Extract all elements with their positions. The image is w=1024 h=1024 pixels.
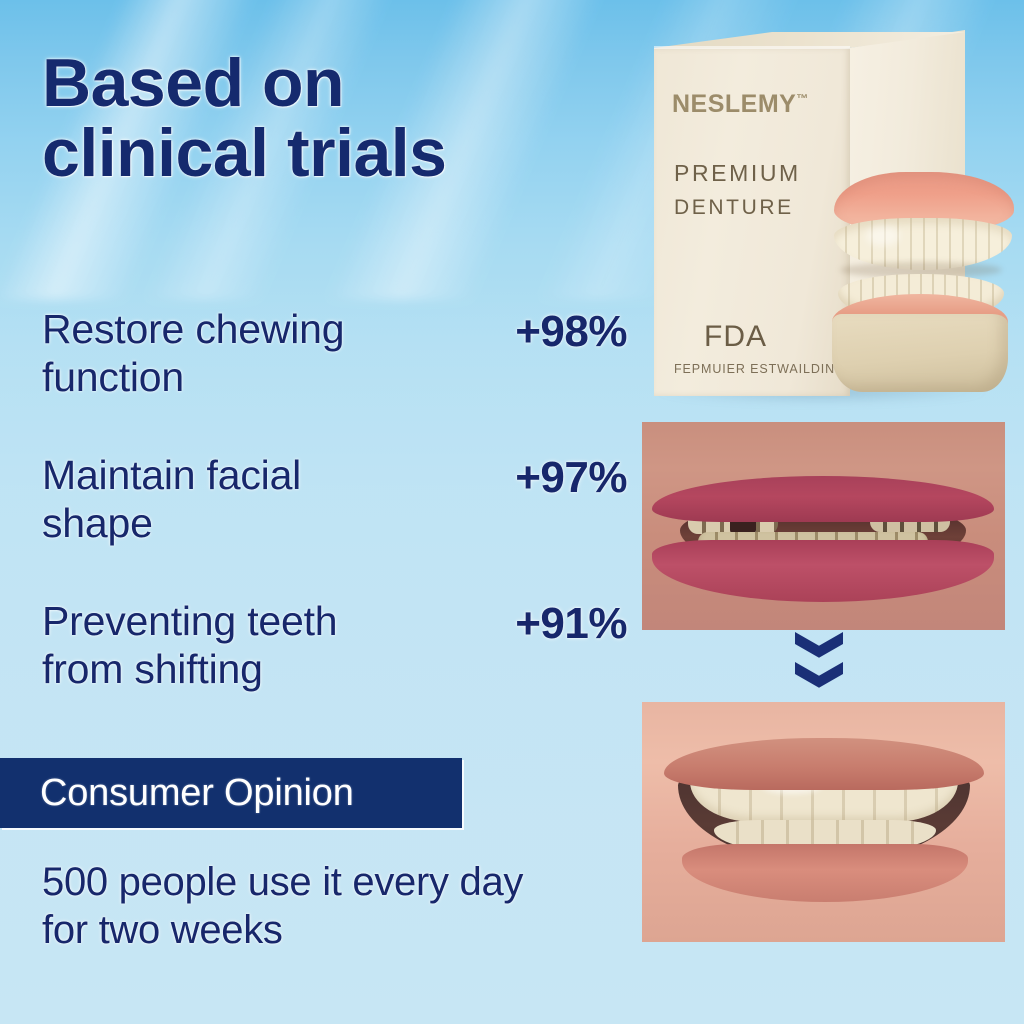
usage-footnote: 500 people use it every day for two week…	[42, 858, 602, 954]
benefit-row: Preventing teeth from shifting +91%	[42, 597, 627, 743]
brand-name: NESLEMY™	[672, 90, 842, 119]
benefit-label: Restore chewing function	[42, 305, 344, 402]
benefit-percentage: +91%	[459, 597, 627, 650]
before-photo	[642, 422, 1005, 630]
chevron-down-icon	[795, 632, 843, 662]
benefit-percentage: +98%	[459, 305, 627, 358]
page-title: Based on clinical trials	[42, 48, 642, 188]
product-photo: NESLEMY™ PREMIUM DENTURE FDA FEPMUIER ES…	[636, 26, 1016, 401]
benefit-row: Maintain facial shape +97%	[42, 451, 627, 597]
consumer-opinion-label: Consumer Opinion	[0, 772, 354, 815]
certification-subtext: FEPMUIER ESTWAILDING	[674, 362, 846, 376]
trademark-symbol: ™	[796, 92, 809, 106]
transition-arrows	[795, 632, 843, 704]
denture-base	[832, 314, 1008, 392]
after-photo	[642, 702, 1005, 942]
promo-image-canvas: Based on clinical trials Restore chewing…	[0, 0, 1024, 1024]
consumer-opinion-banner: Consumer Opinion	[0, 758, 462, 828]
benefit-list: Restore chewing function +98% Maintain f…	[42, 305, 627, 743]
benefit-percentage: +97%	[459, 451, 627, 504]
benefit-row: Restore chewing function +98%	[42, 305, 627, 451]
denture-highlight	[866, 226, 900, 246]
brand-word: NESLEMY	[672, 90, 796, 118]
chevron-down-icon	[795, 662, 843, 692]
benefit-label: Preventing teeth from shifting	[42, 597, 337, 694]
benefit-label: Maintain facial shape	[42, 451, 301, 548]
carton-artwork: NESLEMY™ PREMIUM DENTURE FDA FEPMUIER ES…	[654, 48, 850, 396]
product-line-denture: DENTURE	[674, 196, 794, 220]
denture-model	[826, 164, 1022, 394]
certification-label: FDA	[704, 320, 767, 354]
product-line-premium: PREMIUM	[674, 160, 801, 187]
